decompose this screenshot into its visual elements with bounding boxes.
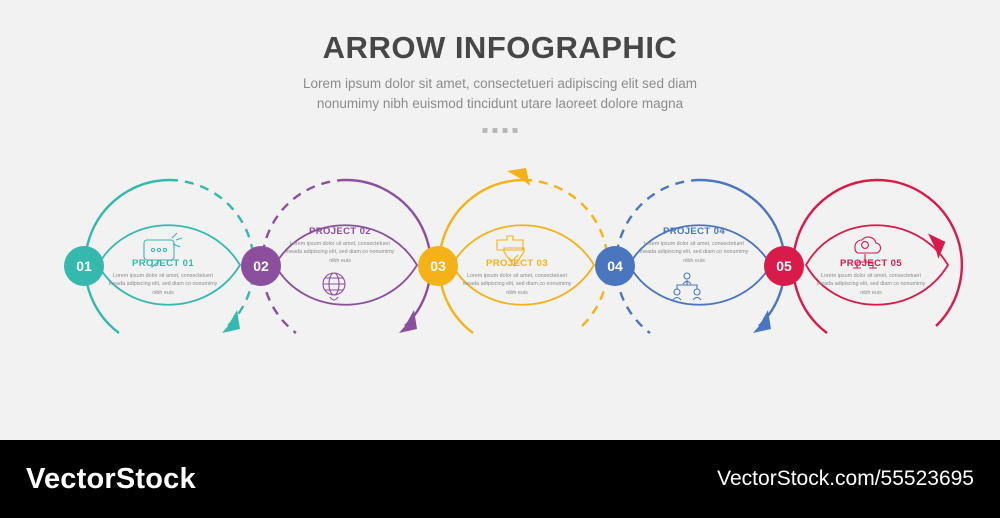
image-id-label: VectorStock.com/55523695 xyxy=(717,467,1000,491)
watermark-footer: VectorStock VectorStock.com/55523695 xyxy=(0,440,1000,518)
step-number-02: 02 xyxy=(253,258,269,274)
arrow-head-02 xyxy=(399,310,417,333)
vectorstock-logo: VectorStock xyxy=(0,463,196,496)
dot xyxy=(493,128,498,133)
chat-bubble-icon xyxy=(144,233,182,267)
globe-idea-icon xyxy=(323,273,345,300)
leaf-outline-01 xyxy=(98,225,240,305)
infographic-canvas: ARROW INFOGRAPHIC Lorem ipsum dolor sit … xyxy=(0,0,1000,440)
arrow-diagram: 01 02 xyxy=(0,150,1000,380)
step-shape-05[interactable]: 05 xyxy=(764,180,962,333)
puzzle-shield-icon xyxy=(497,236,524,266)
step-number-04: 04 xyxy=(607,258,623,274)
solid-arc-05 xyxy=(793,180,877,333)
arrow-head-04 xyxy=(753,310,771,333)
leaf-outline-05 xyxy=(806,225,948,305)
cloud-gear-icon xyxy=(853,237,881,268)
step-number-05: 05 xyxy=(776,258,792,274)
decorative-dots xyxy=(483,128,518,133)
step-shape-03[interactable]: 03 xyxy=(418,168,608,333)
step-shape-01[interactable]: 01 xyxy=(64,180,254,333)
arrow-head-05 xyxy=(919,231,948,259)
step-shape-02[interactable]: 02 xyxy=(241,180,431,333)
arrow-head-03 xyxy=(507,168,530,186)
network-people-icon xyxy=(673,273,701,300)
dot xyxy=(503,128,508,133)
step-number-03: 03 xyxy=(430,258,446,274)
dot xyxy=(483,128,488,133)
arrow-head-01 xyxy=(222,310,240,333)
step-shape-04[interactable]: 04 xyxy=(595,180,785,333)
step-number-01: 01 xyxy=(76,258,92,274)
dot xyxy=(513,128,518,133)
page-subtitle: Lorem ipsum dolor sit amet, consectetuer… xyxy=(290,74,710,113)
leaf-outline-03 xyxy=(452,225,594,305)
leaf-outline-02 xyxy=(275,225,417,305)
page-title: ARROW INFOGRAPHIC xyxy=(0,30,1000,66)
